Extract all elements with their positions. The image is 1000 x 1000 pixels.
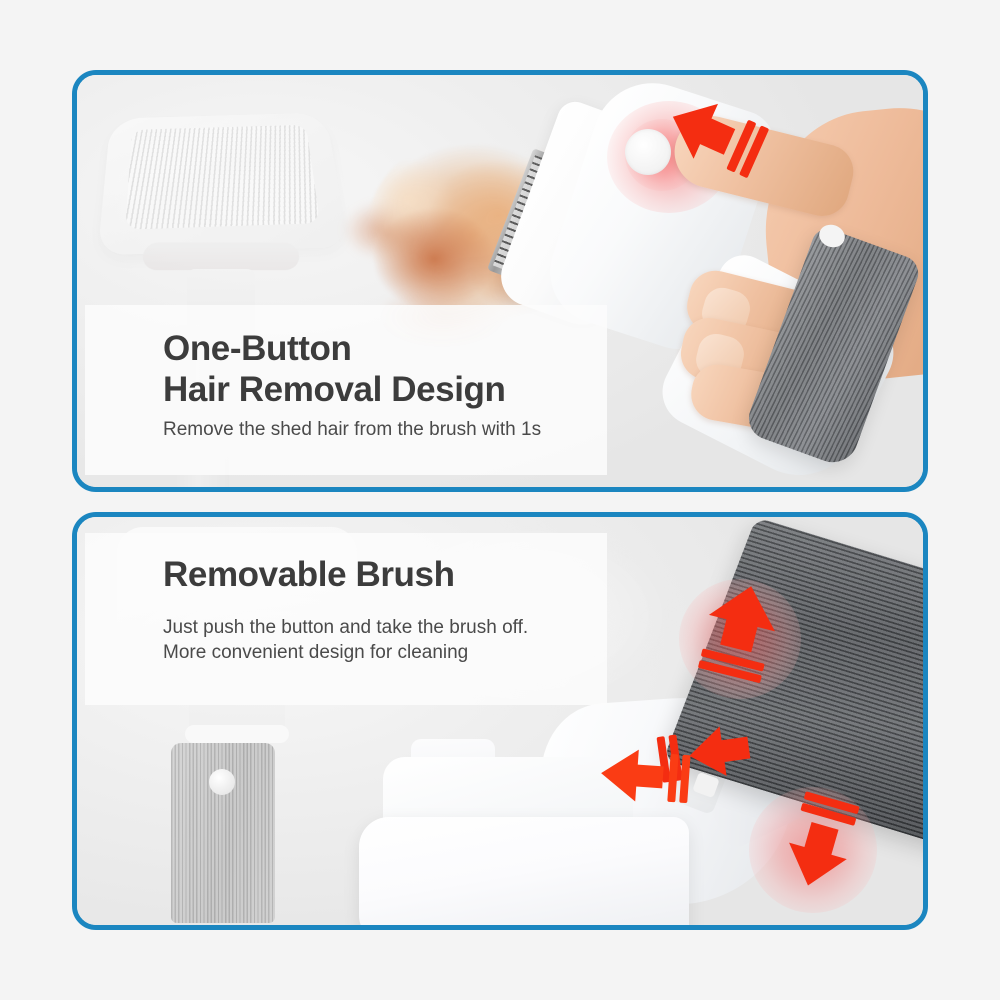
feature-text-card: Removable Brush Just push the button and… <box>85 533 607 705</box>
page-title: One-ButtonHair Removal Design <box>163 329 506 410</box>
arrow-left-down-icon <box>661 93 767 177</box>
feature-panel-one-button: One-ButtonHair Removal Design Remove the… <box>72 70 928 492</box>
infographic-page: One-ButtonHair Removal Design Remove the… <box>0 0 1000 1000</box>
feature-subtext: Remove the shed hair from the brush with… <box>163 417 541 442</box>
arrow-left-icon <box>595 739 691 813</box>
ghost-device-collar <box>185 725 289 743</box>
removable-brush-head <box>359 817 689 930</box>
feature-panel-removable-brush: Removable Brush Just push the button and… <box>72 512 928 930</box>
subtext-line-2: More convenient design for cleaning <box>163 642 468 663</box>
feature-subtext: Just push the button and take the brush … <box>163 615 528 665</box>
subtext-line-1: Just push the button and take the brush … <box>163 617 528 638</box>
arrow-down-icon <box>689 575 793 679</box>
brush-slot <box>142 242 300 270</box>
feature-text-card: One-ButtonHair Removal Design Remove the… <box>85 305 607 475</box>
ghost-release-button <box>209 769 235 795</box>
brush-pin-rows <box>125 125 320 230</box>
arrow-up-right-icon <box>769 797 869 897</box>
headline-line-1: One-Button <box>163 329 351 368</box>
headline-line-2: Hair Removal Design <box>163 370 506 409</box>
arrow-up-left-icon <box>683 715 779 785</box>
page-title: Removable Brush <box>163 555 455 596</box>
ghost-brush-head-image <box>95 93 355 323</box>
